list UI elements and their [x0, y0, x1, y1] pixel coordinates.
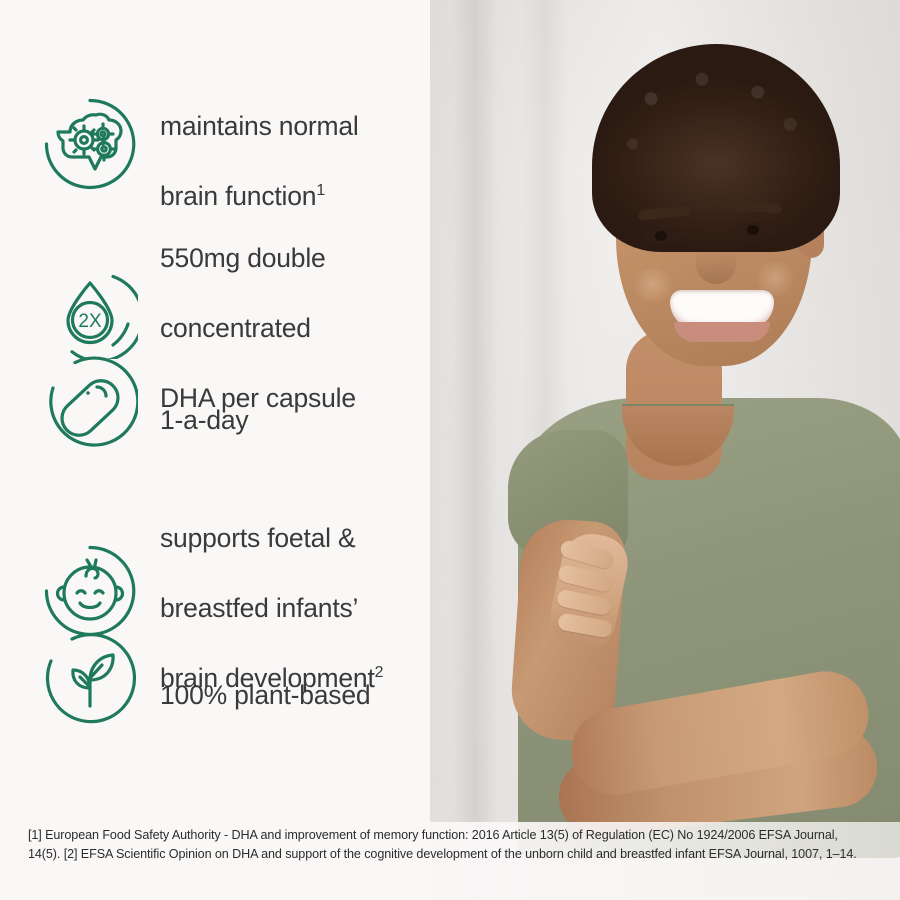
feature-list: maintains normal brain function1 2X 550m…: [0, 0, 470, 820]
model-eye: [734, 222, 774, 237]
footnote-ref: 2: [375, 664, 384, 681]
feature-item-brain: maintains normal brain function1: [42, 74, 359, 214]
footnote-references: [1] European Food Safety Authority - DHA…: [28, 826, 868, 864]
model-photo: [430, 0, 900, 900]
feature-label-plant: 100% plant-based: [160, 643, 370, 713]
feature-item-plant: 100% plant-based: [42, 630, 370, 726]
model-eye: [642, 228, 682, 243]
droplet-2x-label: 2X: [78, 311, 102, 332]
feature-label-frequency: 1-a-day: [160, 368, 248, 438]
model-cheek: [630, 268, 676, 302]
droplet-2x-icon: 2X: [42, 263, 138, 359]
plant-sprout-icon: [42, 630, 138, 726]
brain-gears-icon: [42, 96, 138, 192]
footnote-ref: 1: [316, 182, 325, 199]
capsule-icon: [42, 355, 138, 451]
baby-face-icon: [42, 543, 138, 639]
product-benefits-infographic: maintains normal brain function1 2X 550m…: [0, 0, 900, 900]
feature-label-brain: maintains normal brain function1: [160, 74, 359, 214]
model-lower-lip: [674, 322, 770, 342]
feature-item-frequency: 1-a-day: [42, 355, 248, 451]
